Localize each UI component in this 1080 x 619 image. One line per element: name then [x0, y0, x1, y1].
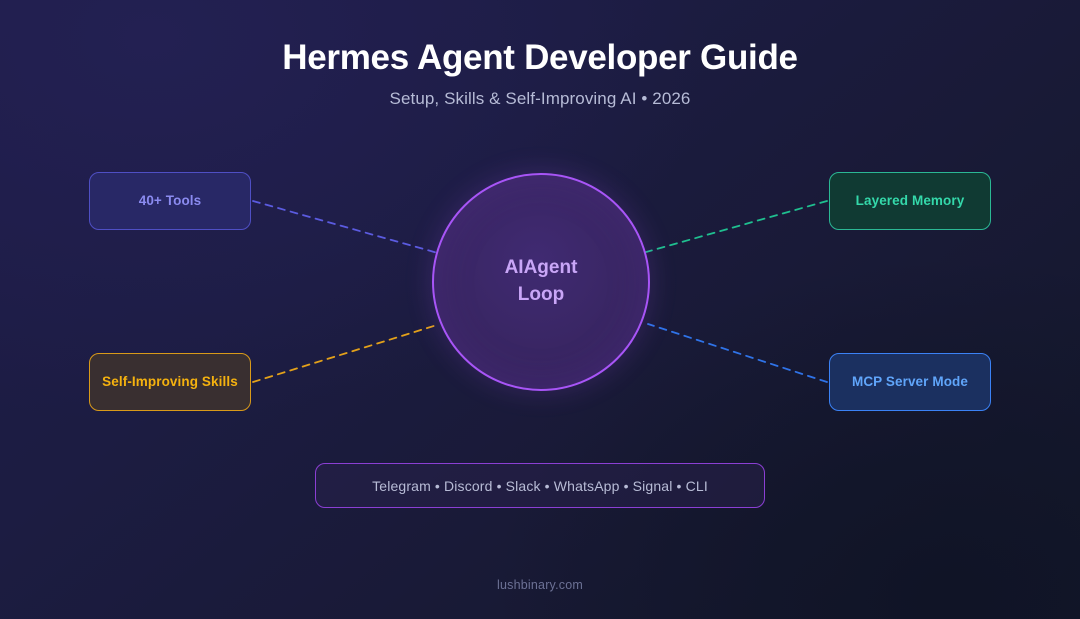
- feature-node-tools-label: 40+ Tools: [139, 193, 202, 209]
- footer: lushbinary.com: [0, 576, 1080, 594]
- core-node-label-line1: AIAgent: [505, 255, 578, 282]
- connector-tools: [253, 201, 452, 257]
- feature-node-mcp[interactable]: MCP Server Mode: [829, 353, 991, 411]
- feature-node-memory-label: Layered Memory: [856, 193, 965, 209]
- feature-node-mcp-label: MCP Server Mode: [852, 374, 968, 390]
- footer-source-label: lushbinary.com: [497, 578, 583, 592]
- core-node[interactable]: AIAgent Loop: [432, 173, 650, 391]
- core-node-label-line2: Loop: [518, 282, 564, 309]
- connector-memory: [632, 201, 827, 256]
- header: Hermes Agent Developer Guide Setup, Skil…: [0, 38, 1080, 109]
- feature-node-memory[interactable]: Layered Memory: [829, 172, 991, 230]
- page-title: Hermes Agent Developer Guide: [0, 38, 1080, 77]
- connector-mcp: [648, 324, 827, 382]
- page-subtitle: Setup, Skills & Self-Improving AI • 2026: [0, 89, 1080, 109]
- channels-list-label: Telegram • Discord • Slack • WhatsApp • …: [372, 478, 708, 494]
- diagram-canvas: Hermes Agent Developer Guide Setup, Skil…: [0, 0, 1080, 619]
- feature-node-skills[interactable]: Self-Improving Skills: [89, 353, 251, 411]
- feature-node-skills-label: Self-Improving Skills: [102, 374, 238, 390]
- feature-node-tools[interactable]: 40+ Tools: [89, 172, 251, 230]
- connector-skills: [253, 325, 437, 382]
- channels-bar[interactable]: Telegram • Discord • Slack • WhatsApp • …: [315, 463, 765, 508]
